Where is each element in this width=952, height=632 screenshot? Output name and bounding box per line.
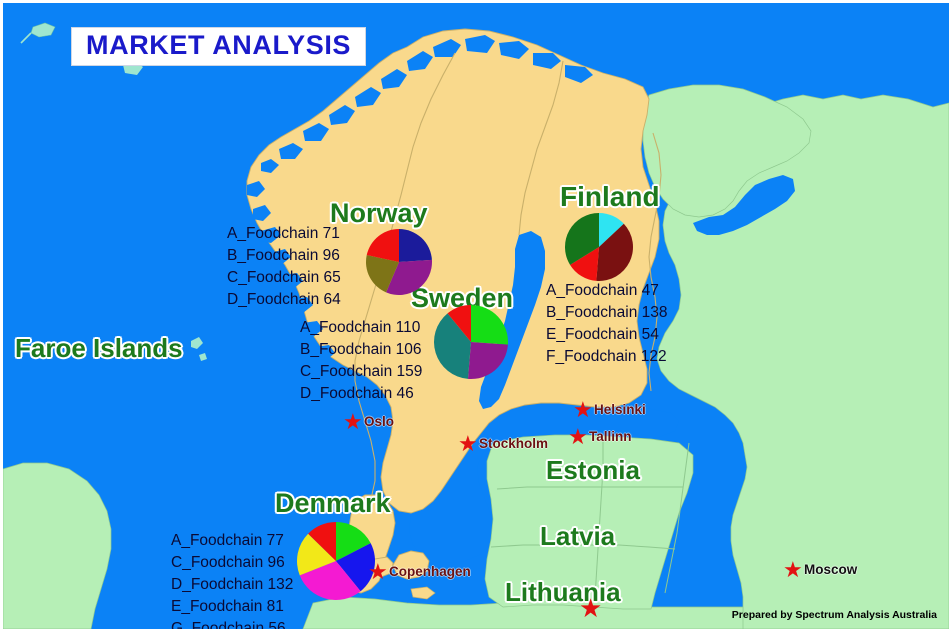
city-label: Tallinn	[589, 429, 632, 444]
pie-chart-finland[interactable]	[563, 211, 635, 283]
credit-line: Prepared by Spectrum Analysis Australia	[732, 609, 937, 621]
city-label: Copenhagen	[389, 564, 471, 579]
star-icon: ★	[579, 595, 602, 621]
pie-chart-denmark[interactable]	[295, 520, 377, 602]
legend-finland: A_Foodchain 47B_Foodchain 138E_Foodchain…	[546, 280, 668, 368]
star-icon: ★	[568, 426, 588, 446]
title-plate: MARKET ANALYSIS	[71, 27, 366, 66]
pie-chart-norway[interactable]	[364, 227, 434, 297]
city-label: Helsinki	[594, 402, 646, 417]
star-icon: ★	[343, 411, 363, 431]
legend-row: E_Foodchain 54	[546, 324, 668, 346]
legend-row: A_Foodchain 71	[227, 223, 341, 245]
legend-row: C_Foodchain 65	[227, 267, 341, 289]
star-icon: ★	[573, 399, 593, 419]
legend-row: A_Foodchain 77	[171, 530, 293, 552]
legend-row: A_Foodchain 47	[546, 280, 668, 302]
pie-slice[interactable]	[399, 229, 432, 262]
map-screenshot: MARKET ANALYSIS Faroe IslandsNorwaySwede…	[0, 0, 952, 632]
pie-slice[interactable]	[468, 342, 508, 379]
city-marker-copenhagen[interactable]: ★Copenhagen	[368, 561, 471, 581]
pie-slice[interactable]	[471, 305, 508, 345]
city-marker-helsinki[interactable]: ★Helsinki	[573, 399, 646, 419]
star-icon: ★	[458, 433, 478, 453]
legend-norway: A_Foodchain 71B_Foodchain 96C_Foodchain …	[227, 223, 341, 311]
pie-chart-sweden[interactable]	[432, 303, 510, 381]
city-marker-tallinn[interactable]: ★Tallinn	[568, 426, 632, 446]
legend-sweden: A_Foodchain 110B_Foodchain 106C_Foodchai…	[300, 317, 422, 405]
legend-row: D_Foodchain 46	[300, 383, 422, 405]
legend-row: E_Foodchain 81	[171, 596, 293, 618]
city-marker-moscow[interactable]: ★Moscow	[783, 559, 857, 579]
city-marker-stockholm[interactable]: ★Stockholm	[458, 433, 548, 453]
legend-row: B_Foodchain 138	[546, 302, 668, 324]
legend-row: F_Foodchain 122	[546, 346, 668, 368]
legend-row: C_Foodchain 96	[171, 552, 293, 574]
star-icon: ★	[368, 561, 388, 581]
legend-row: D_Foodchain 64	[227, 289, 341, 311]
city-label: Oslo	[364, 414, 394, 429]
star-icon: ★	[783, 559, 803, 579]
legend-row: D_Foodchain 132	[171, 574, 293, 596]
legend-row: B_Foodchain 96	[227, 245, 341, 267]
city-label: Moscow	[804, 562, 857, 577]
legend-row: C_Foodchain 159	[300, 361, 422, 383]
map-canvas[interactable]: MARKET ANALYSIS Faroe IslandsNorwaySwede…	[3, 3, 949, 629]
legend-row: G_Foodchain 56	[171, 618, 293, 629]
city-marker-oslo[interactable]: ★Oslo	[343, 411, 394, 431]
page-title: MARKET ANALYSIS	[86, 32, 351, 59]
legend-denmark: A_Foodchain 77C_Foodchain 96D_Foodchain …	[171, 530, 293, 629]
legend-row: A_Foodchain 110	[300, 317, 422, 339]
legend-row: B_Foodchain 106	[300, 339, 422, 361]
city-label: Stockholm	[479, 436, 548, 451]
